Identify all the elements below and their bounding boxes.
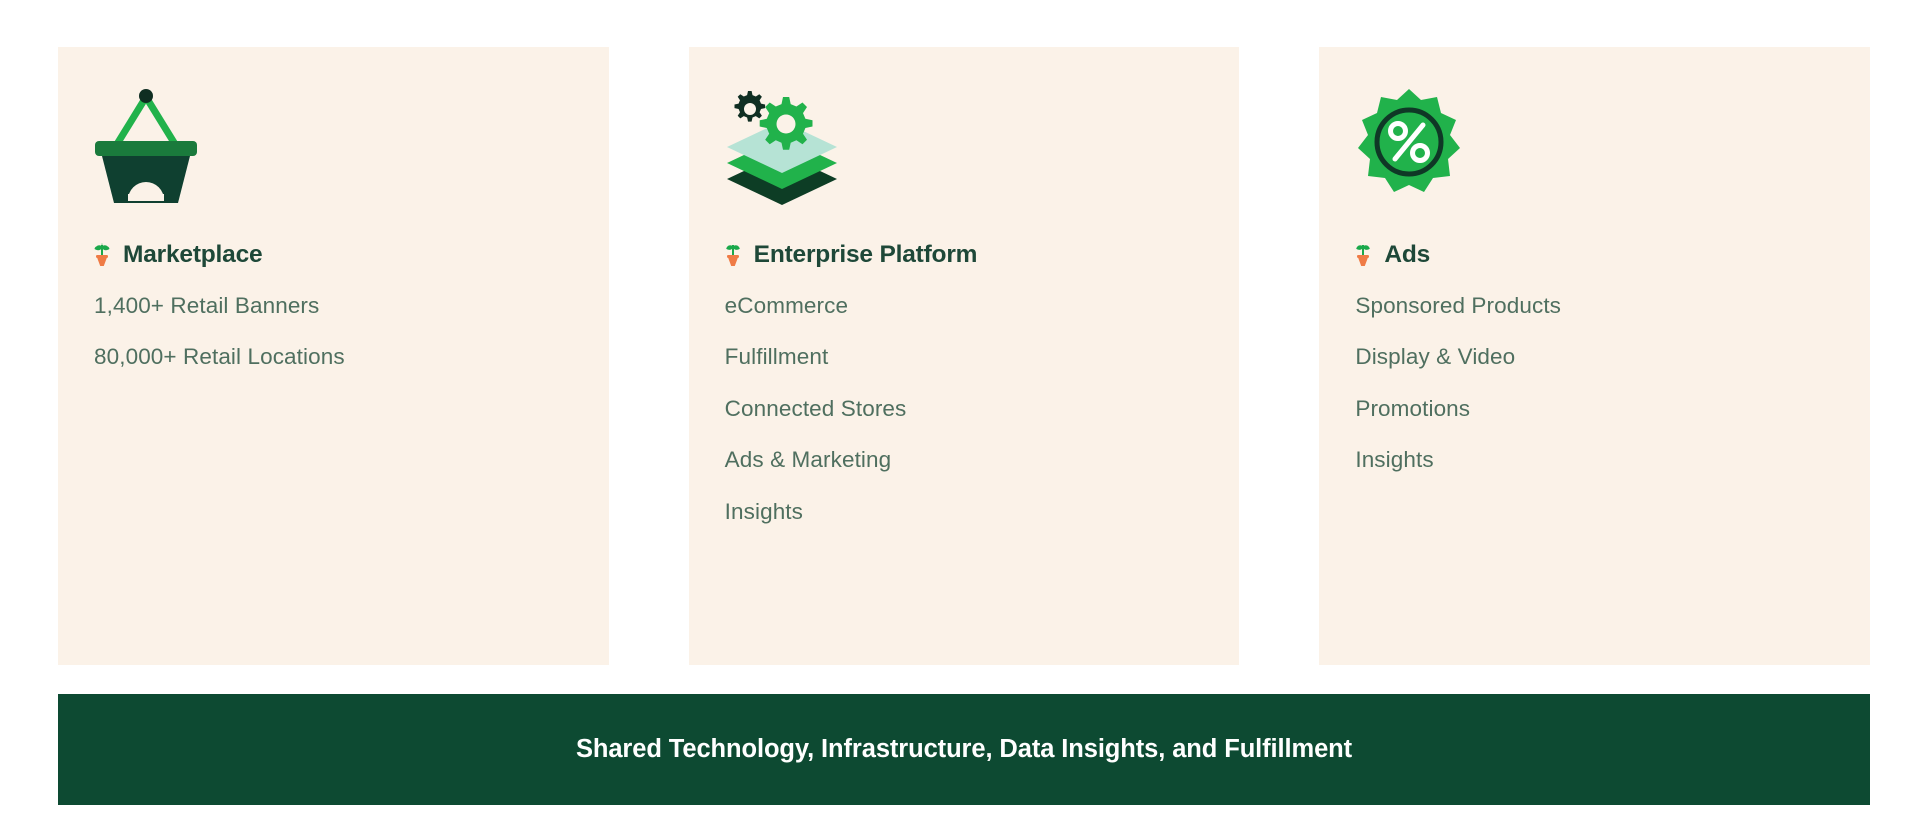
shared-services-banner: Shared Technology, Infrastructure, Data … — [58, 694, 1870, 805]
card-heading-enterprise-platform: Enterprise Platform — [723, 243, 1206, 268]
gear-large-icon — [759, 97, 812, 150]
card-marketplace[interactable]: Marketplace 1,400+ Retail Banners 80,000… — [58, 47, 609, 665]
platform-overview-page: Marketplace 1,400+ Retail Banners 80,000… — [0, 0, 1920, 835]
list-item[interactable]: Insights — [1353, 449, 1836, 472]
list-item[interactable]: Insights — [723, 501, 1206, 524]
card-title: Enterprise Platform — [754, 243, 978, 268]
gear-small-icon — [734, 91, 765, 122]
list-item[interactable]: 80,000+ Retail Locations — [92, 346, 575, 369]
list-item[interactable]: Fulfillment — [723, 346, 1206, 398]
card-list-marketplace: 1,400+ Retail Banners 80,000+ Retail Loc… — [92, 295, 575, 369]
card-grid: Marketplace 1,400+ Retail Banners 80,000… — [58, 47, 1870, 665]
list-item[interactable]: Ads & Marketing — [723, 449, 1206, 501]
card-list-enterprise-platform: eCommerce Fulfillment Connected Stores A… — [723, 295, 1206, 524]
card-title: Ads — [1384, 243, 1430, 268]
carrot-icon — [92, 243, 112, 267]
card-list-ads: Sponsored Products Display & Video Promo… — [1353, 295, 1836, 472]
card-heading-marketplace: Marketplace — [92, 243, 575, 268]
layered-stack-gears-icon — [723, 87, 841, 209]
carrot-icon — [723, 243, 743, 267]
card-heading-ads: Ads — [1353, 243, 1836, 268]
list-item[interactable]: Display & Video — [1353, 346, 1836, 398]
shopping-basket-icon — [92, 87, 200, 205]
list-item[interactable]: Connected Stores — [723, 398, 1206, 450]
card-enterprise-platform[interactable]: Enterprise Platform eCommerce Fulfillmen… — [689, 47, 1240, 665]
list-item[interactable]: Promotions — [1353, 398, 1836, 450]
list-item[interactable]: 1,400+ Retail Banners — [92, 295, 575, 347]
percent-badge-icon — [1353, 87, 1465, 199]
list-item[interactable]: eCommerce — [723, 295, 1206, 347]
card-ads[interactable]: Ads Sponsored Products Display & Video P… — [1319, 47, 1870, 665]
card-icon-wrapper — [92, 87, 575, 229]
card-icon-wrapper — [1353, 87, 1836, 229]
card-icon-wrapper — [723, 87, 1206, 229]
list-item[interactable]: Sponsored Products — [1353, 295, 1836, 347]
carrot-icon — [1353, 243, 1373, 267]
banner-text: Shared Technology, Infrastructure, Data … — [576, 737, 1352, 763]
card-title: Marketplace — [123, 243, 262, 268]
